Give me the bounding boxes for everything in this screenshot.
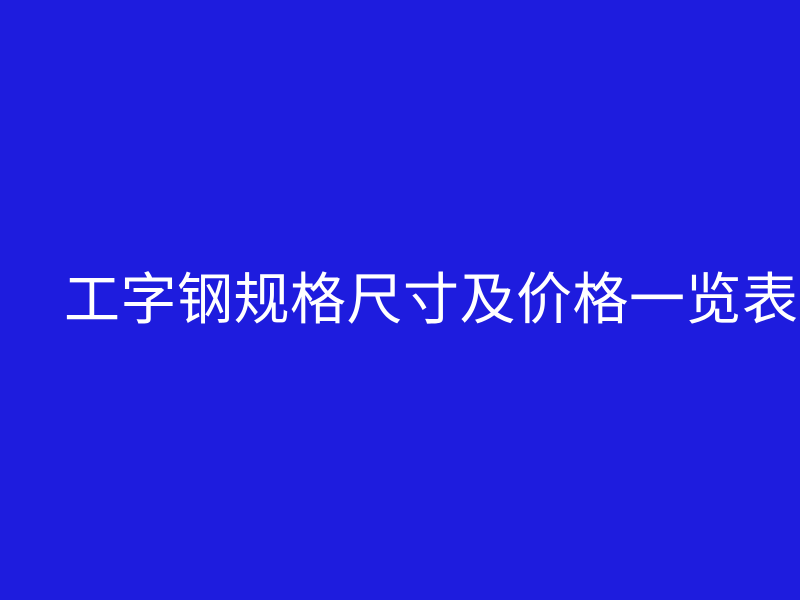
headline-block: 工字钢规格尺寸及价格一览表 bbox=[0, 270, 800, 330]
slide-canvas: 工字钢规格尺寸及价格一览表 bbox=[0, 0, 800, 600]
page-title: 工字钢规格尺寸及价格一览表 bbox=[64, 270, 744, 330]
